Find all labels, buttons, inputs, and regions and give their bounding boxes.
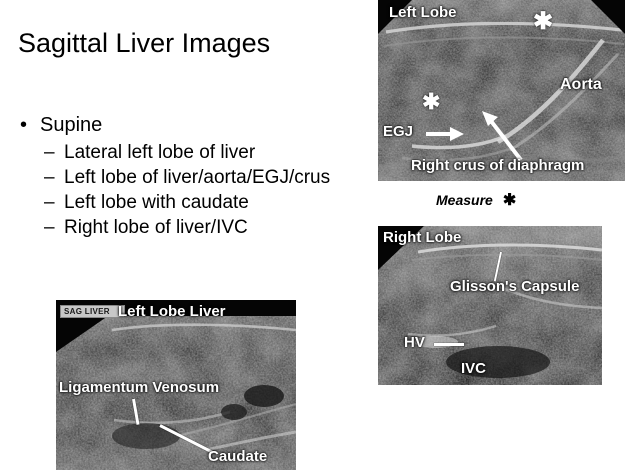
- ultrasound-image-right-lobe-ivc: Right Lobe Glisson's Capsule HV IVC: [378, 226, 602, 385]
- bullet-sublabel: Left lobe with caudate: [64, 192, 249, 213]
- presentation-slide: Sagittal Liver Images • Supine – Lateral…: [0, 0, 625, 470]
- slide-title: Sagittal Liver Images: [18, 28, 270, 59]
- ultrasound-image-left-lobe-caudate: SAG LIVER Left Lobe Liver Ligamentum Ven…: [56, 300, 296, 470]
- arrow-right-crus: [482, 111, 521, 160]
- label-left-lobe-liver: Left Lobe Liver: [118, 303, 226, 320]
- label-glissons-capsule: Glisson's Capsule: [450, 278, 579, 295]
- bullet-sublabel: Right lobe of liver/IVC: [64, 217, 248, 238]
- label-ivc: IVC: [461, 360, 486, 377]
- label-right-lobe: Right Lobe: [383, 229, 461, 246]
- bullet-subitem-left-lobe-aorta-egj-crus: – Left lobe of liver/aorta/EGJ/crus: [14, 165, 414, 190]
- bullet-sublabel: Left lobe of liver/aorta/EGJ/crus: [64, 167, 330, 188]
- bullet-label-supine: Supine: [40, 114, 102, 136]
- sag-liver-badge: SAG LIVER: [60, 305, 125, 318]
- bullet-item-supine: • Supine: [14, 112, 414, 138]
- bullet-subitem-right-lobe-ivc: – Right lobe of liver/IVC: [14, 215, 414, 240]
- bullet-marker-dash: –: [44, 165, 55, 190]
- ultrasound-texture: [378, 226, 602, 385]
- bullet-marker-dot: •: [20, 112, 27, 138]
- bullet-marker-dash: –: [44, 215, 55, 240]
- pointer-line-hv: [434, 343, 464, 346]
- bullet-subitem-left-lobe-caudate: – Left lobe with caudate: [14, 190, 414, 215]
- bullet-subitem-lateral-left-lobe: – Lateral left lobe of liver: [14, 140, 414, 165]
- pointer-arrows: [378, 0, 625, 181]
- label-caudate: Caudate: [208, 448, 267, 465]
- ultrasound-image-left-lobe-aorta: Left Lobe ✱ Aorta ✱ EGJ Right crus of di…: [378, 0, 625, 181]
- measure-caption: Measure✱: [436, 190, 516, 210]
- measure-label: Measure: [436, 192, 493, 208]
- measure-asterisk: ✱: [493, 192, 516, 209]
- arrow-egj: [426, 127, 464, 141]
- bullet-marker-dash: –: [44, 190, 55, 215]
- label-hv: HV: [404, 334, 425, 351]
- label-right-crus-of-diaphragm: Right crus of diaphragm: [411, 157, 584, 174]
- bullet-list: • Supine – Lateral left lobe of liver – …: [14, 112, 414, 240]
- label-ligamentum-venosum: Ligamentum Venosum: [59, 379, 219, 396]
- bullet-sublabel: Lateral left lobe of liver: [64, 142, 255, 163]
- bullet-marker-dash: –: [44, 140, 55, 165]
